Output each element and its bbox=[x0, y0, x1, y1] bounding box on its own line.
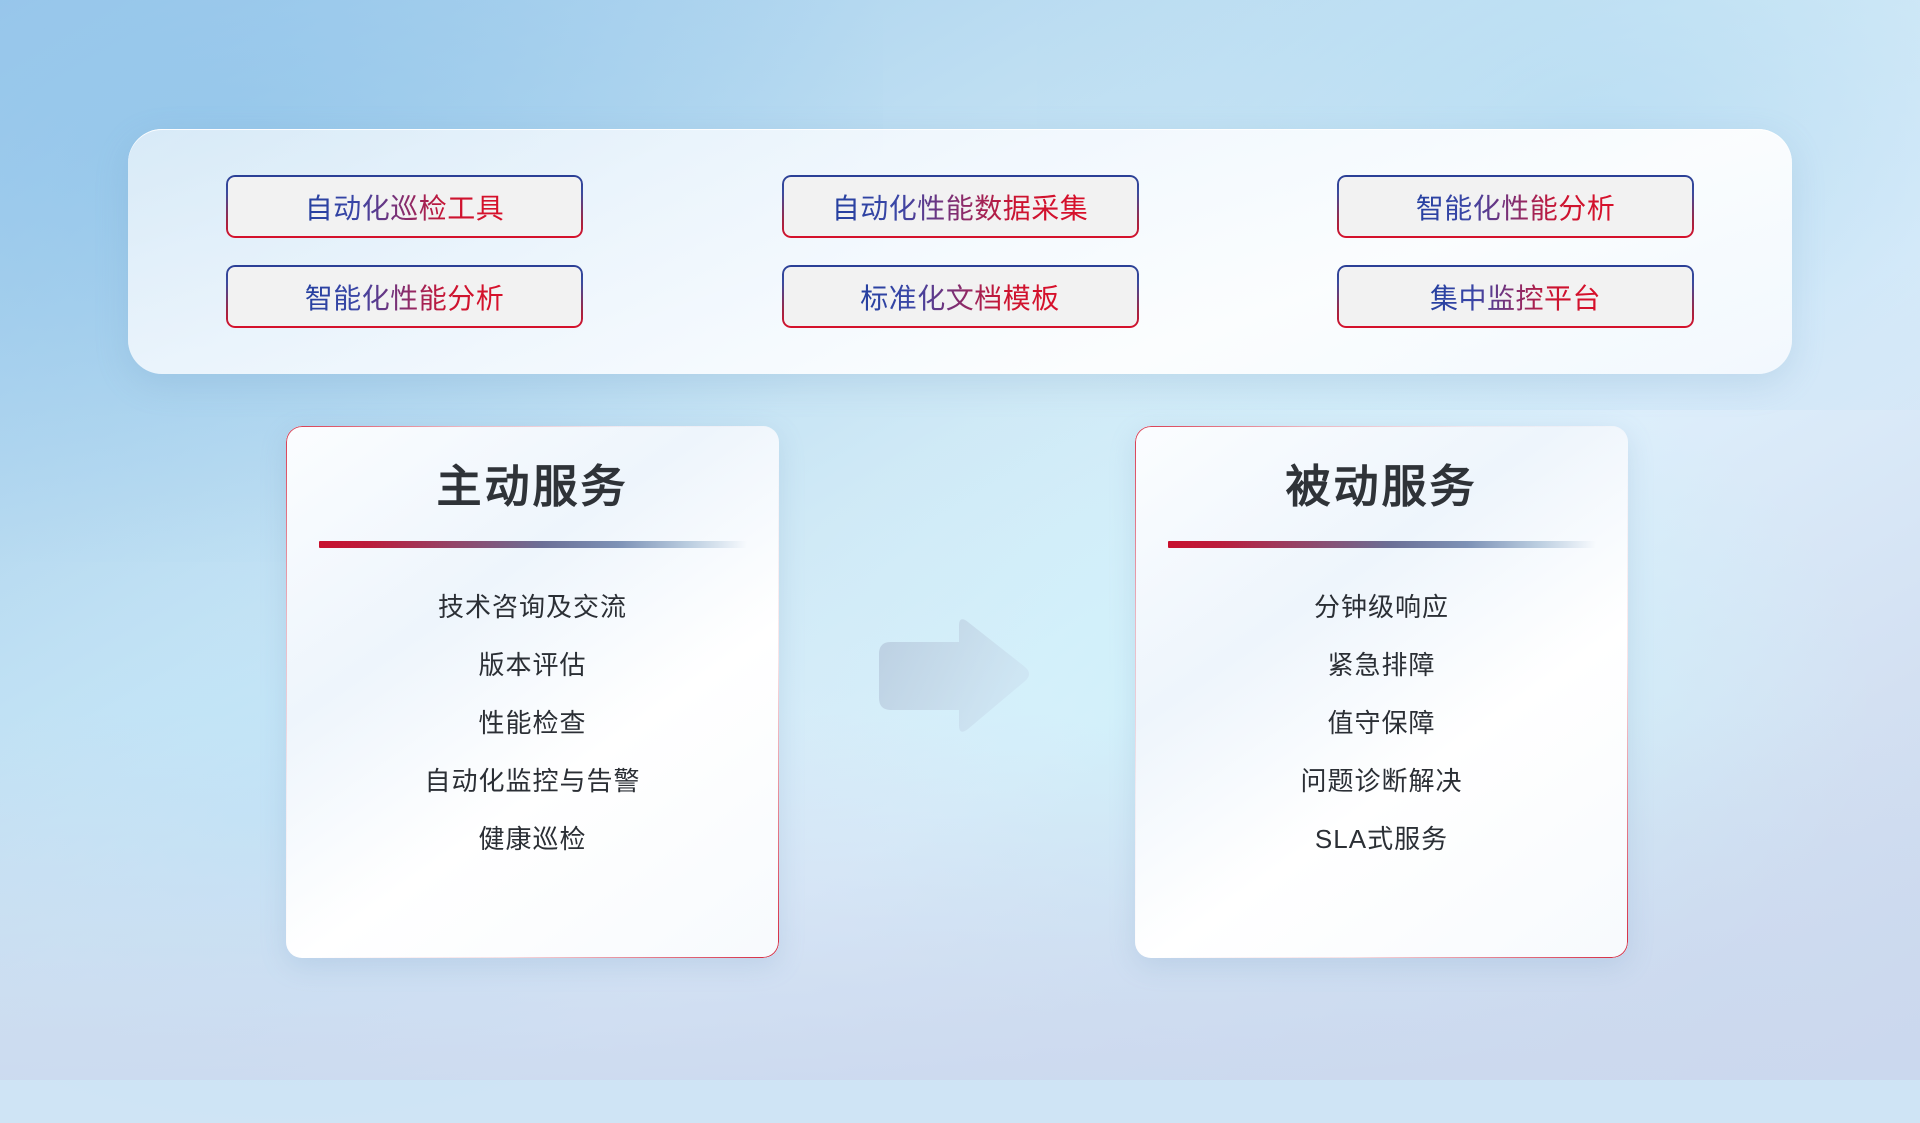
list-item[interactable]: 版本评估 bbox=[286, 636, 779, 694]
capability-pill-inspection-tool[interactable]: 自动化巡检工具 bbox=[226, 175, 583, 238]
list-item[interactable]: SLA式服务 bbox=[1135, 810, 1628, 868]
capability-row-2: 智能化性能分析 标准化文档模板 集中监控平台 bbox=[226, 265, 1694, 328]
card-title: 被动服务 bbox=[1285, 464, 1477, 509]
list-item[interactable]: 性能检查 bbox=[286, 694, 779, 752]
capability-pill-intelligent-performance-analysis[interactable]: 智能化性能分析 bbox=[1337, 175, 1694, 238]
service-list-active: 技术咨询及交流 版本评估 性能检查 自动化监控与告警 健康巡检 bbox=[286, 578, 779, 868]
card-divider bbox=[319, 541, 747, 548]
capability-pill-label: 自动化性能数据采集 bbox=[832, 187, 1089, 227]
service-list-passive: 分钟级响应 紧急排障 值守保障 问题诊断解决 SLA式服务 bbox=[1135, 578, 1628, 868]
list-item[interactable]: 技术咨询及交流 bbox=[286, 578, 779, 636]
list-item[interactable]: 自动化监控与告警 bbox=[286, 752, 779, 810]
capability-pill-intelligent-performance-analysis-2[interactable]: 智能化性能分析 bbox=[226, 265, 583, 328]
card-title: 主动服务 bbox=[436, 464, 628, 509]
list-item[interactable]: 分钟级响应 bbox=[1135, 578, 1628, 636]
service-card-active: 主动服务 技术咨询及交流 版本评估 性能检查 自动化监控与告警 健康巡检 bbox=[286, 426, 779, 958]
card-divider bbox=[1168, 541, 1596, 548]
capability-pill-performance-data-collection[interactable]: 自动化性能数据采集 bbox=[782, 175, 1139, 238]
capability-pill-label: 智能化性能分析 bbox=[305, 277, 505, 317]
capability-pill-label: 集中监控平台 bbox=[1430, 277, 1601, 317]
list-item[interactable]: 值守保障 bbox=[1135, 694, 1628, 752]
list-item[interactable]: 问题诊断解决 bbox=[1135, 752, 1628, 810]
capability-pill-central-monitoring-platform[interactable]: 集中监控平台 bbox=[1337, 265, 1694, 328]
list-item[interactable]: 健康巡检 bbox=[286, 810, 779, 868]
capability-panel: 自动化巡检工具 自动化性能数据采集 智能化性能分析 智能化性能分析 标准化文档模… bbox=[128, 129, 1792, 374]
capability-pill-label: 自动化巡检工具 bbox=[305, 187, 505, 227]
capability-pill-label: 标准化文档模板 bbox=[860, 277, 1060, 317]
service-card-passive: 被动服务 分钟级响应 紧急排障 值守保障 问题诊断解决 SLA式服务 bbox=[1135, 426, 1628, 958]
right-arrow-icon bbox=[873, 617, 1033, 735]
list-item[interactable]: 紧急排障 bbox=[1135, 636, 1628, 694]
capability-pill-document-template[interactable]: 标准化文档模板 bbox=[782, 265, 1139, 328]
capability-row-1: 自动化巡检工具 自动化性能数据采集 智能化性能分析 bbox=[226, 175, 1694, 238]
capability-pill-label: 智能化性能分析 bbox=[1416, 187, 1616, 227]
